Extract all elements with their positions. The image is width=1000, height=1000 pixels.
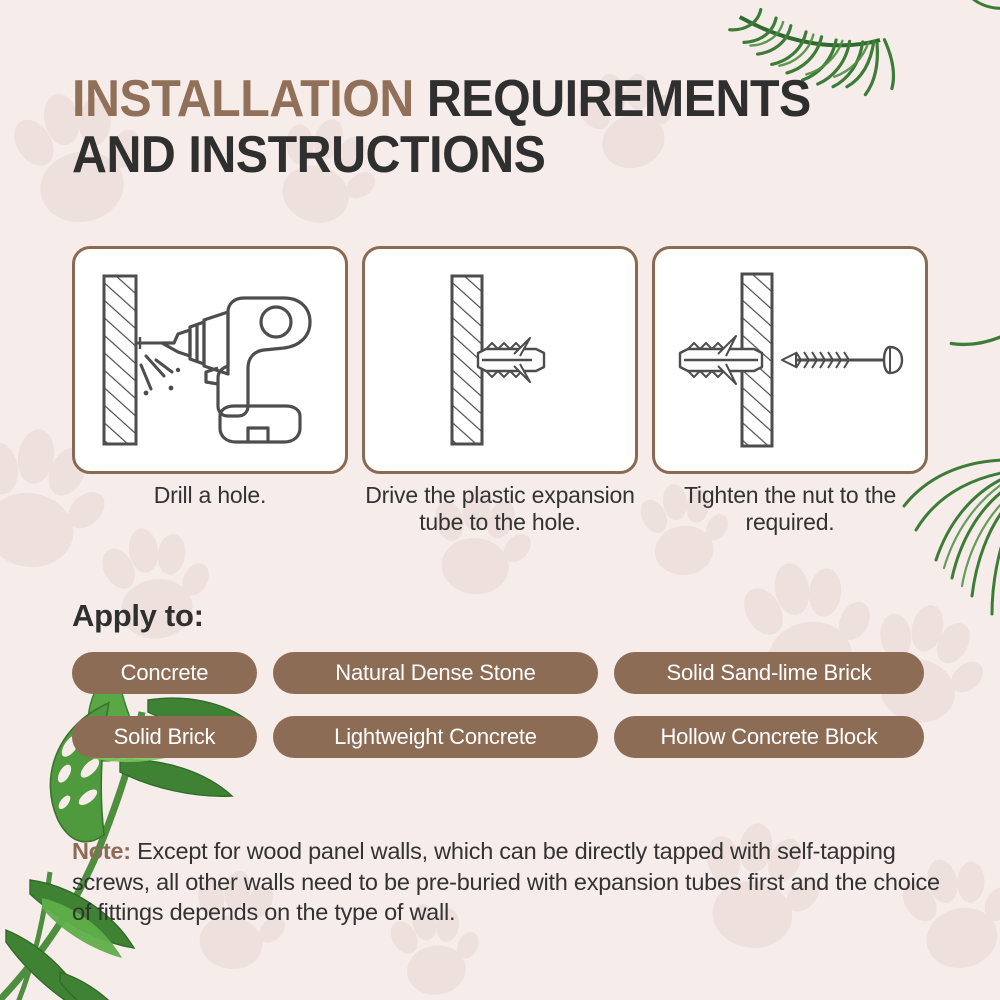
step-panel-insert-anchor [362,246,638,474]
title-line-2: AND INSTRUCTIONS [72,128,890,184]
step-caption-tighten-screw: Tighten the nut to the required. [652,482,928,546]
step-panels [72,246,928,474]
material-pill-hollow-concrete-block[interactable]: Hollow Concrete Block [614,716,924,758]
wall-and-expansion-tube-icon [368,260,632,460]
wall-anchor-and-screw-icon [658,260,922,460]
material-pill-grid: Concrete Natural Dense Stone Solid Sand-… [72,652,952,758]
step-caption-insert-anchor: Drive the plastic expansion tube to the … [362,482,638,546]
note-text: Except for wood panel walls, which can b… [72,838,940,925]
title-line-1-rest: REQUIREMENTS [414,70,811,128]
material-pill-concrete[interactable]: Concrete [72,652,257,694]
apply-to-heading: Apply to: [72,598,204,634]
step-captions: Drill a hole. Drive the plastic expansio… [72,482,928,546]
material-pill-solid-brick[interactable]: Solid Brick [72,716,257,758]
page-title: INSTALLATION REQUIREMENTS AND INSTRUCTIO… [72,72,952,183]
step-panel-drill [72,246,348,474]
title-accent-word: INSTALLATION [72,70,414,128]
title-line-1: INSTALLATION REQUIREMENTS [72,72,890,128]
material-pill-solid-sand-lime-brick[interactable]: Solid Sand-lime Brick [614,652,924,694]
step-panel-tighten-screw [652,246,928,474]
material-pill-lightweight-concrete[interactable]: Lightweight Concrete [273,716,598,758]
wall-and-drill-icon [78,260,342,460]
infographic-canvas: INSTALLATION REQUIREMENTS AND INSTRUCTIO… [0,0,1000,1000]
note-label: Note: [72,838,131,864]
material-pill-natural-dense-stone[interactable]: Natural Dense Stone [273,652,598,694]
step-caption-drill: Drill a hole. [72,482,348,546]
note-block: Note: Except for wood panel walls, which… [72,836,952,928]
